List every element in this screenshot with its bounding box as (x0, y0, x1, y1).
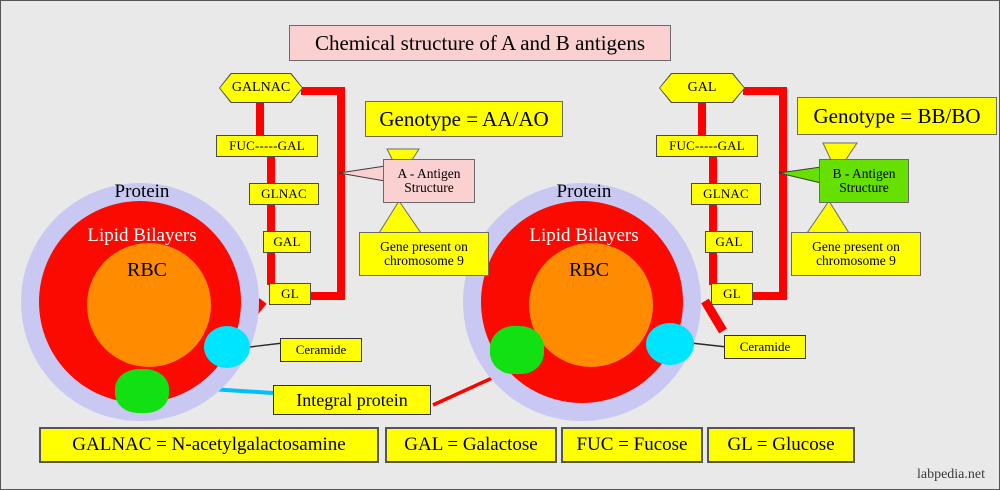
antigen-b-line1: B - Antigen (833, 167, 896, 181)
left-chain-label-gl: GL (281, 287, 299, 301)
gene-b-line2: chromosome 9 (816, 254, 896, 268)
right-ceramide-blob (646, 323, 694, 365)
right-integral-protein-blob (490, 326, 544, 374)
gene-b-line1: Gene present on (812, 240, 900, 254)
left-chain-node-galnac[interactable]: GALNAC (219, 73, 303, 103)
legend-item-fuc[interactable]: FUC = Fucose (561, 427, 703, 463)
right-label-lipid-bilayers: Lipid Bilayers (499, 225, 669, 247)
left-chain-node-gal[interactable]: GAL (263, 231, 311, 253)
gene-a-box[interactable]: Gene present on chromosome 9 (359, 232, 489, 276)
left-chain-label-galnac: GALNAC (220, 74, 302, 102)
antigen-a-structure-box[interactable]: A - Antigen Structure (383, 159, 475, 203)
integral-protein-text: Integral protein (296, 391, 407, 410)
right-label-protein: Protein (529, 181, 639, 203)
left-chain-label-glnac: GLNAC (261, 187, 307, 201)
legend-item-galnac[interactable]: GALNAC = N-acetylgalactosamine (39, 427, 379, 463)
left-label-lipid-bilayers: Lipid Bilayers (57, 225, 227, 247)
ceramide-right-text: Ceramide (740, 340, 791, 354)
right-chain-node-gal-top[interactable]: GAL (659, 73, 745, 103)
ceramide-left-text: Ceramide (296, 343, 347, 357)
right-chain-label-gal-top: GAL (660, 74, 744, 102)
legend-item-gal[interactable]: GAL = Galactose (385, 427, 557, 463)
legend-item-gl[interactable]: GL = Glucose (707, 427, 855, 463)
antigen-a-line1: A - Antigen (398, 167, 461, 181)
antigen-b-structure-box[interactable]: B - Antigen Structure (819, 159, 909, 203)
diagram-canvas: Spectrin Spectrin Chemical structure of … (0, 0, 1000, 490)
ceramide-label-right[interactable]: Ceramide (724, 335, 806, 359)
right-chain-node-gal[interactable]: GAL (705, 231, 753, 253)
left-label-protein: Protein (87, 181, 197, 203)
right-chain-label-gal: GAL (715, 235, 742, 249)
right-chain-node-fuc-gal[interactable]: FUC-----GAL (656, 135, 758, 157)
genotype-a-label: Genotype = AA/AO (379, 108, 548, 130)
antigen-a-tail (339, 166, 385, 181)
right-chain-label-fuc-gal: FUC-----GAL (669, 139, 745, 153)
antigen-b-line2: Structure (839, 181, 889, 195)
right-chain-label-gl: GL (723, 287, 741, 301)
left-chain-label-fuc-gal: FUC-----GAL (229, 139, 305, 153)
genotype-b-callout[interactable]: Genotype = BB/BO (797, 97, 997, 135)
left-chain-label-gal: GAL (273, 235, 300, 249)
legend-gl-text: GL = Glucose (727, 435, 834, 455)
gene-b-box[interactable]: Gene present on chromosome 9 (791, 232, 921, 276)
right-chain-node-gl[interactable]: GL (711, 283, 753, 305)
antigen-a-line2: Structure (404, 181, 454, 195)
page-title: Chemical structure of A and B antigens (289, 25, 671, 61)
genotype-b-label: Genotype = BB/BO (813, 105, 980, 127)
left-chain-node-glnac[interactable]: GLNAC (249, 183, 319, 205)
left-chain-node-gl[interactable]: GL (269, 283, 311, 305)
left-label-rbc: RBC (107, 259, 187, 282)
legend-galnac-text: GALNAC = N-acetylgalactosamine (72, 435, 345, 455)
legend-fuc-text: FUC = Fucose (576, 435, 687, 455)
integral-protein-label[interactable]: Integral protein (273, 385, 431, 415)
right-chain-label-glnac: GLNAC (703, 187, 749, 201)
genotype-a-callout[interactable]: Genotype = AA/AO (365, 101, 563, 137)
gene-b-tail (807, 201, 849, 233)
right-label-rbc: RBC (549, 259, 629, 282)
gene-a-tail (379, 201, 421, 233)
legend-gal-text: GAL = Galactose (404, 435, 537, 455)
left-ceramide-blob (204, 326, 250, 368)
right-chain-node-glnac[interactable]: GLNAC (691, 183, 761, 205)
left-integral-protein-blob (115, 369, 169, 413)
gene-a-line1: Gene present on (380, 240, 468, 254)
gene-a-line2: chromosome 9 (384, 254, 464, 268)
left-chain-node-fuc-gal[interactable]: FUC-----GAL (216, 135, 318, 157)
watermark: labpedia.net (917, 467, 985, 483)
ceramide-label-left[interactable]: Ceramide (280, 338, 362, 362)
